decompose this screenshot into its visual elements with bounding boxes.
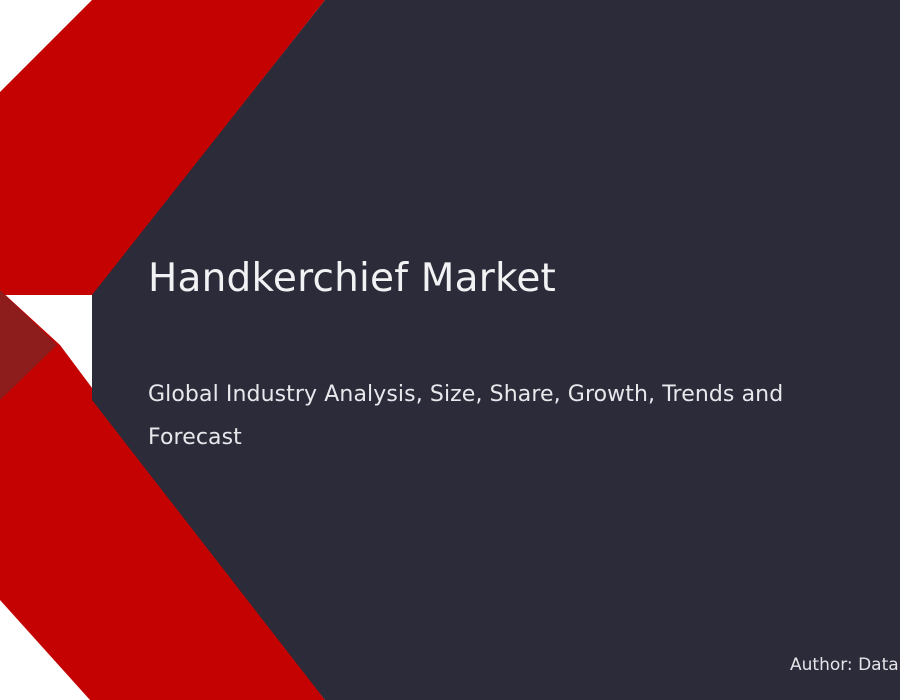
page-title: Handkerchief Market	[148, 255, 556, 303]
slide-subtitle: Global Industry Analysis, Size, Share, G…	[148, 373, 808, 459]
title-slide: Handkerchief Market Global Industry Anal…	[0, 0, 900, 700]
slide-text-layer: Handkerchief Market Global Industry Anal…	[0, 0, 900, 700]
author-label: Author: Data	[790, 653, 899, 677]
